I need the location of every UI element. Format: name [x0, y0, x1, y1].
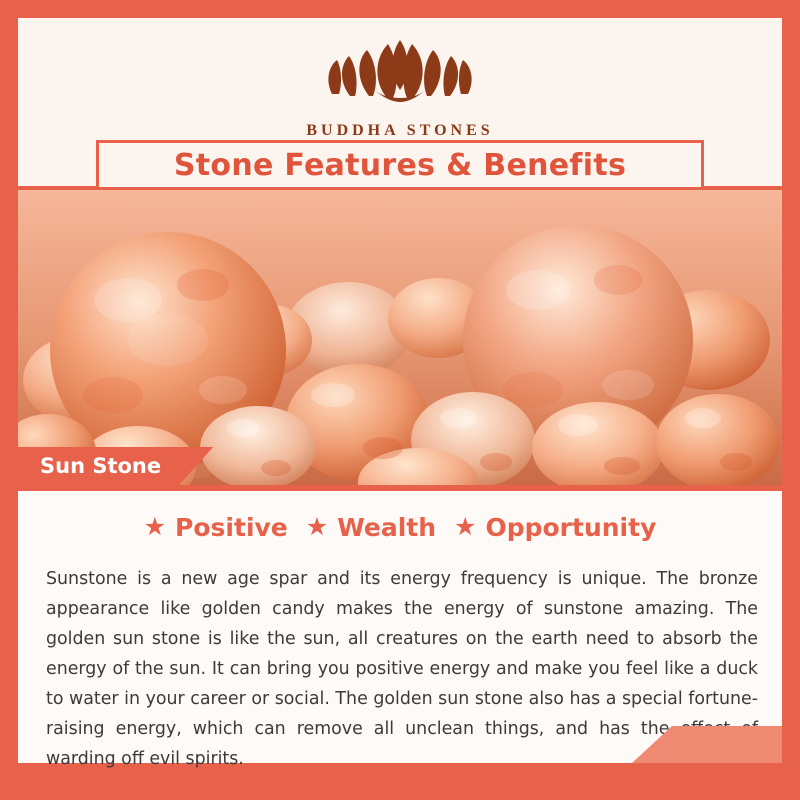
photo-caption-ribbon: Sun Stone	[18, 447, 213, 485]
keyword-label: Opportunity	[485, 513, 656, 542]
keyword-list: ★ Positive ★ Wealth ★ Opportunity	[18, 513, 782, 542]
brand-logo: BUDDHA STONES	[18, 32, 782, 140]
content-panel: ★ Positive ★ Wealth ★ Opportunity Sunsto…	[18, 491, 782, 763]
page-title-text: Stone Features & Benefits	[174, 148, 626, 183]
keyword-label: Positive	[175, 513, 288, 542]
star-icon: ★	[454, 515, 476, 540]
product-photo	[18, 190, 782, 485]
infographic-page: BUDDHA STONES Stone Features & Benefits	[0, 0, 800, 800]
brand-name: BUDDHA STONES	[18, 122, 782, 140]
photo-caption: Sun Stone	[40, 454, 161, 478]
lotus-meditation-icon	[18, 32, 782, 118]
keyword-item-positive: ★ Positive	[144, 513, 288, 542]
star-icon: ★	[306, 515, 328, 540]
description-text: Sunstone is a new age spar and its energ…	[46, 564, 758, 774]
page-title: Stone Features & Benefits	[96, 140, 704, 190]
star-icon: ★	[144, 515, 166, 540]
keyword-item-opportunity: ★ Opportunity	[454, 513, 656, 542]
keyword-label: Wealth	[337, 513, 436, 542]
keyword-item-wealth: ★ Wealth	[306, 513, 436, 542]
